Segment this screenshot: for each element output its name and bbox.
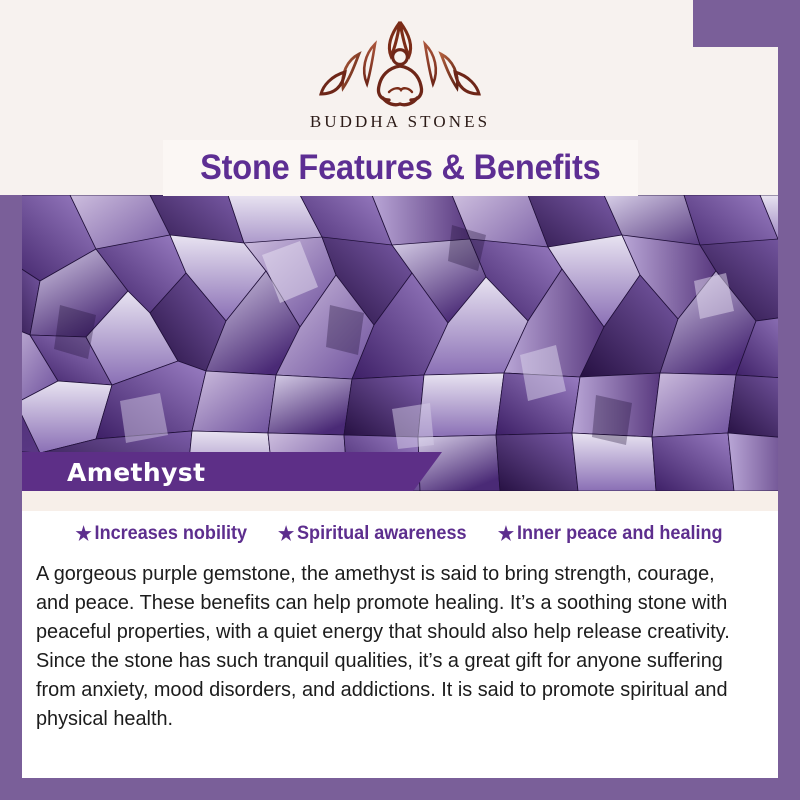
divider-strip — [22, 491, 778, 511]
frame-band-bottom — [0, 778, 800, 800]
stone-description: A gorgeous purple gemstone, the amethyst… — [36, 559, 740, 733]
content-section: ★ Increases nobility ★ Spiritual awarene… — [22, 511, 778, 778]
star-icon: ★ — [498, 525, 514, 544]
star-icon: ★ — [278, 525, 294, 544]
feature-item: ★ Spiritual awareness — [278, 523, 467, 545]
page-title: Stone Features & Benefits — [200, 148, 601, 188]
stone-name-label: Amethyst — [67, 458, 205, 487]
lotus-meditation-figure-icon — [315, 14, 485, 110]
feature-label: Spiritual awareness — [297, 523, 467, 545]
feature-label: Increases nobility — [95, 523, 247, 545]
brand-name: BUDDHA STONES — [0, 112, 800, 132]
stone-name-banner: Amethyst — [22, 452, 442, 492]
brand-logo-block: BUDDHA STONES — [0, 14, 800, 132]
title-panel: Stone Features & Benefits — [163, 140, 638, 196]
star-icon: ★ — [76, 525, 92, 544]
feature-label: Inner peace and healing — [517, 523, 723, 545]
infographic-page: BUDDHA STONES — [0, 0, 800, 800]
features-row: ★ Increases nobility ★ Spiritual awarene… — [22, 511, 778, 545]
frame-band-right — [778, 0, 800, 800]
amethyst-crystal-cluster-photo — [0, 195, 800, 491]
frame-band-left — [0, 195, 22, 800]
feature-item: ★ Inner peace and healing — [498, 523, 723, 545]
feature-item: ★ Increases nobility — [76, 523, 248, 545]
